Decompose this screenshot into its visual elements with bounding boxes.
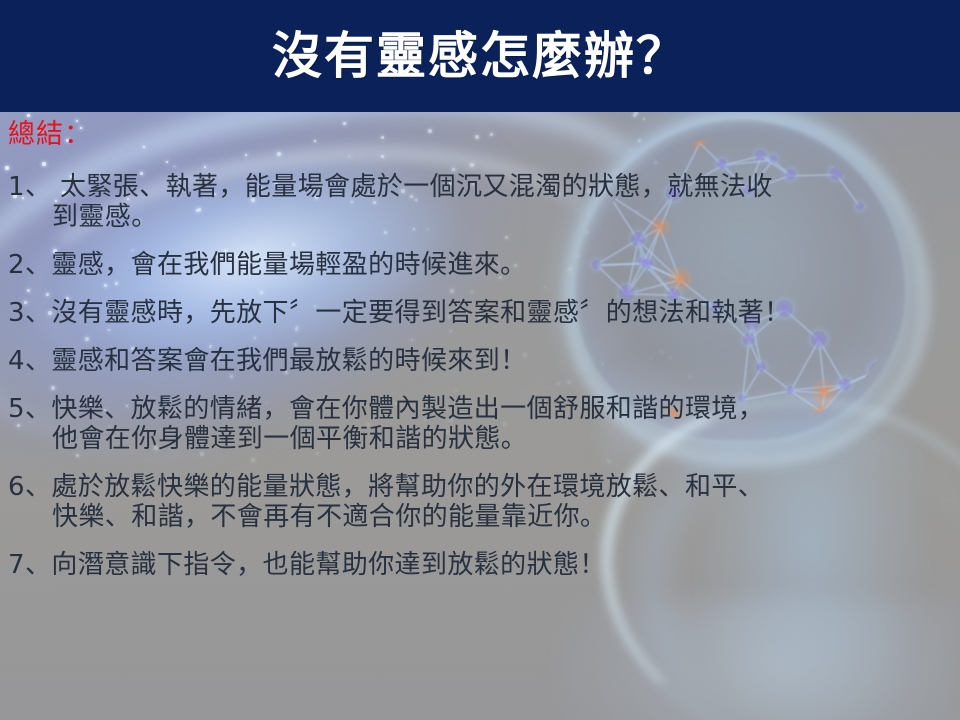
summary-point-line: 3、沒有靈感時，先放下〞一定要得到答案和靈感〞的想法和執著！	[52, 298, 956, 328]
summary-point-6: 6、處於放鬆快樂的能量狀態，將幫助你的外在環境放鬆、和平、快樂、和諧，不會再有不…	[8, 472, 956, 532]
summary-point-line: 7、向潛意識下指令，也能幫助你達到放鬆的狀態！	[52, 550, 956, 580]
summary-point-7: 7、向潛意識下指令，也能幫助你達到放鬆的狀態！	[8, 550, 956, 580]
summary-point-line: 到靈感。	[52, 202, 956, 232]
summary-point-line: 快樂、和諧，不會再有不適合你的能量靠近你。	[52, 502, 956, 532]
slide-title: 沒有靈感怎麼辦？	[272, 31, 688, 81]
summary-point-line: 2、靈感，會在我們能量場輕盈的時候進來。	[52, 250, 956, 280]
summary-point-5: 5、快樂、放鬆的情緒，會在你體內製造出一個舒服和諧的環境，他會在你身體達到一個平…	[8, 394, 956, 454]
summary-point-2: 2、靈感，會在我們能量場輕盈的時候進來。	[8, 250, 956, 280]
slide-content: 總結： 1、 太緊張、執著，能量場會處於一個沉又混濁的狀態，就無法收到靈感。2、…	[0, 112, 960, 720]
summary-point-line: 他會在你身體達到一個平衡和諧的狀態。	[52, 424, 956, 454]
title-banner: 沒有靈感怎麼辦？	[0, 0, 960, 112]
summary-point-line: 4、靈感和答案會在我們最放鬆的時候來到！	[52, 346, 956, 376]
summary-point-line: 6、處於放鬆快樂的能量狀態，將幫助你的外在環境放鬆、和平、	[52, 472, 956, 502]
summary-point-line: 1、 太緊張、執著，能量場會處於一個沉又混濁的狀態，就無法收	[52, 172, 956, 202]
summary-point-line: 5、快樂、放鬆的情緒，會在你體內製造出一個舒服和諧的環境，	[52, 394, 956, 424]
summary-point-4: 4、靈感和答案會在我們最放鬆的時候來到！	[8, 346, 956, 376]
summary-point-1: 1、 太緊張、執著，能量場會處於一個沉又混濁的狀態，就無法收到靈感。	[8, 172, 956, 232]
slide-canvas: 沒有靈感怎麼辦？ 總結： 1、 太緊張、執著，能量場會處於一個沉又混濁的狀態，就…	[0, 0, 960, 720]
summary-heading: 總結：	[8, 120, 92, 150]
summary-point-3: 3、沒有靈感時，先放下〞一定要得到答案和靈感〞的想法和執著！	[8, 298, 956, 328]
summary-points-list: 1、 太緊張、執著，能量場會處於一個沉又混濁的狀態，就無法收到靈感。2、靈感，會…	[8, 172, 956, 598]
